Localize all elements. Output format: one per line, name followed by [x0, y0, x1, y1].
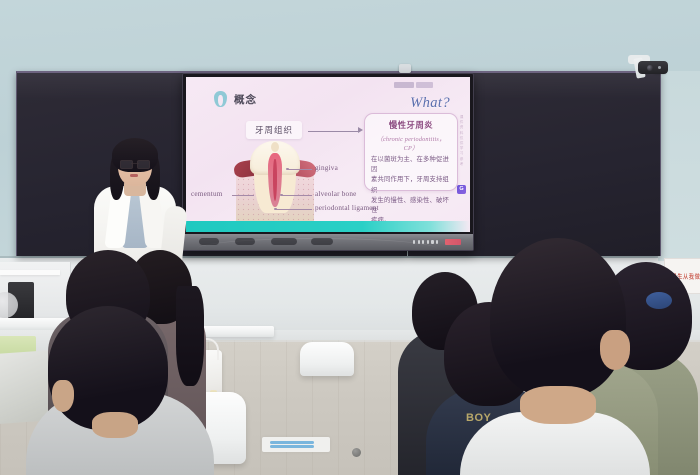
bezel-control[interactable] — [235, 238, 255, 245]
alveolar-bone-anchor — [280, 194, 283, 197]
tissue-arrow-icon — [358, 127, 363, 133]
label-periodontal-ligament: periodontal ligament — [315, 204, 379, 212]
slide-footer-band — [186, 221, 470, 232]
wall-camera-icon — [638, 61, 668, 74]
bezel-control[interactable] — [199, 238, 219, 245]
alveolar-bone-leader — [282, 195, 312, 196]
student-hair-strand — [176, 286, 204, 386]
glasses-icon — [120, 160, 150, 167]
wall-right-pillar — [658, 71, 700, 261]
definition-heading: 慢性牙周炎 — [371, 119, 451, 131]
slide-watermark: 课件资料仅供学习参考 — [458, 115, 465, 167]
slide-header-badge — [394, 82, 433, 88]
bezel-brand-mark — [445, 239, 461, 245]
gingiva-anchor — [286, 168, 289, 171]
badge-chip — [416, 82, 433, 88]
wall-display[interactable]: 概念 What? 牙周组织 — [182, 73, 474, 251]
student-head — [490, 238, 626, 398]
slide-title-text: 概念 — [234, 92, 257, 107]
definition-box: 慢性牙周炎 （chronic periodontitis，CP） 在以菌斑为主、… — [364, 113, 458, 191]
periodontal-ligament-leader — [276, 209, 312, 210]
student-neck — [92, 412, 138, 438]
tooth-icon — [214, 91, 227, 107]
desk — [196, 326, 274, 337]
tissue-label-box: 牙周组织 — [246, 121, 302, 139]
student-ear — [600, 330, 630, 370]
bezel-control[interactable] — [271, 238, 297, 245]
display-bezel-controls[interactable] — [183, 234, 473, 250]
cementum-leader — [232, 195, 254, 196]
slide-corner-badge: G — [457, 185, 466, 194]
camera-led-icon — [658, 66, 661, 69]
student-ear — [52, 380, 74, 412]
bezel-control[interactable] — [311, 238, 333, 245]
bezel-status-dots — [413, 240, 438, 244]
definition-line: 发生的慢性、感染性、破坏性 — [371, 196, 451, 216]
slide-title: 概念 — [214, 91, 257, 107]
floor-bolt — [352, 448, 361, 457]
gingiva-leader — [288, 169, 312, 170]
hair-tie-icon — [646, 292, 672, 309]
label-alveolar-bone: alveolar bone — [315, 190, 357, 198]
board-clip — [399, 64, 411, 73]
cabinet-ledge — [0, 270, 60, 275]
label-gingiva: gingiva — [315, 164, 338, 172]
definition-latin: （chronic periodontitis，CP） — [371, 134, 451, 152]
periodontal-ligament-anchor — [274, 208, 277, 211]
label-cementum: cementum — [191, 190, 223, 198]
badge-chip — [394, 82, 414, 88]
tooth-anatomy-diagram — [222, 139, 330, 227]
instructor-mouth — [130, 174, 138, 177]
definition-body: 在以菌斑为主、在多种促进因 素共同作用下，牙周支持组织 发生的慢性、感染性、破坏… — [371, 155, 451, 226]
presentation-slide: 概念 What? 牙周组织 — [186, 77, 470, 232]
slide-question-word: What? — [410, 95, 450, 112]
definition-line: 素共同作用下，牙周支持组织 — [371, 175, 451, 195]
tissue-leader-line — [308, 131, 360, 132]
camera-lens-icon — [647, 65, 653, 71]
display-screen[interactable]: 概念 What? 牙周组织 — [186, 77, 470, 232]
classroom-screenshot: 概念 What? 牙周组织 — [0, 0, 700, 475]
student-neck — [520, 386, 596, 424]
definition-line: 在以菌斑为主、在多种促进因 — [371, 155, 451, 175]
floor-marker — [262, 437, 330, 452]
chair — [300, 342, 354, 376]
